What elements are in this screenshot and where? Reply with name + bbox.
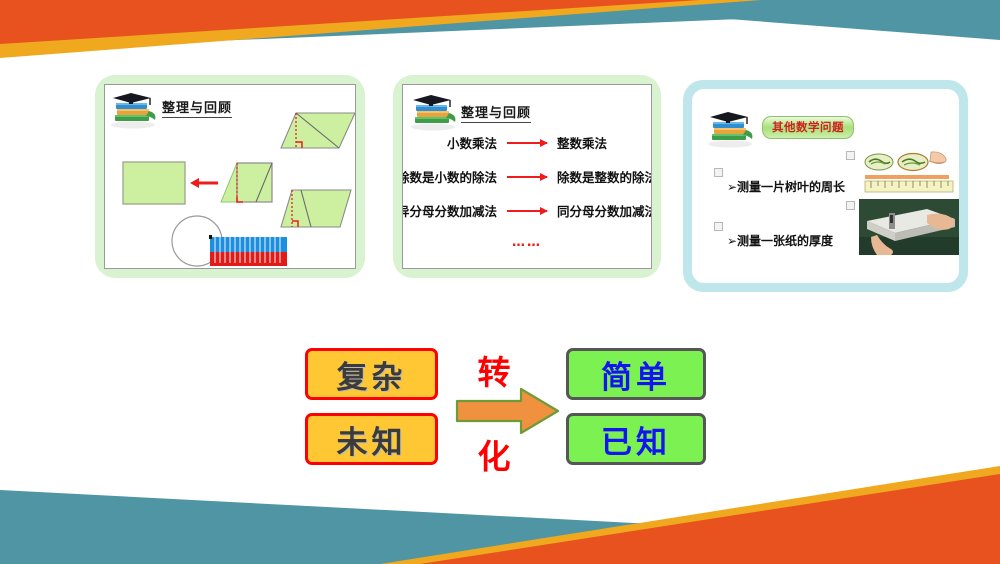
operation-to: 除数是整数的除法 [557, 167, 652, 186]
left-arrow-icon [190, 178, 218, 188]
card1-shape-diagram [105, 85, 356, 269]
bullet-marker-icon [714, 168, 723, 177]
card2-title: 整理与回顾 [461, 102, 531, 123]
summary-box-known[interactable]: 已知 [566, 413, 706, 465]
parallelogram-shape [221, 163, 272, 202]
operation-from: 除数是小数的除法 [402, 167, 497, 186]
card1-inner: 整理与回顾 [104, 84, 356, 269]
operation-to: 整数乘法 [557, 133, 651, 152]
card3-inner: 其他数学问题 ➢测量一片树叶的周长 ➢测量一张纸的厚度 [692, 89, 959, 283]
triangle-shape [281, 113, 355, 148]
operation-transform-list: 小数乘法 整数乘法 除数是小数的除法 除数是整数的除法 异分母分数加减法 同分母… [403, 133, 651, 220]
operation-row: 除数是小数的除法 除数是整数的除法 [403, 167, 651, 186]
operation-from: 小数乘法 [403, 133, 497, 152]
ellipsis-text: …… [403, 235, 651, 250]
right-arrow-icon [507, 176, 547, 178]
card-other-math-problems[interactable]: 其他数学问题 ➢测量一片树叶的周长 ➢测量一张纸的厚度 [683, 80, 968, 292]
slide-canvas: 整理与回顾 [0, 0, 1000, 564]
problem-item-2: ➢测量一张纸的厚度 [727, 232, 833, 249]
right-arrow-icon [507, 210, 547, 212]
summary-box-complex[interactable]: 复杂 [305, 348, 438, 400]
card-review-shapes[interactable]: 整理与回顾 [95, 75, 365, 278]
trapezoid-shape [281, 190, 351, 227]
image-marker-icon [846, 151, 855, 160]
circle-unroll-bar [209, 235, 287, 266]
right-arrow-icon [455, 387, 560, 435]
books-graduation-cap-icon [409, 91, 459, 131]
right-arrow-icon [507, 142, 547, 144]
bullet-marker-icon [714, 222, 723, 231]
books-graduation-cap-icon [706, 108, 756, 148]
operation-from: 异分母分数加减法 [402, 201, 497, 220]
operation-row: 异分母分数加减法 同分母分数加减法 [403, 201, 651, 220]
rectangle-shape [123, 162, 185, 204]
book-thickness-measure-image [859, 199, 959, 255]
card2-inner: 整理与回顾 小数乘法 整数乘法 除数是小数的除法 除数是整数的除法 异分母分数加… [402, 84, 652, 269]
operation-to: 同分母分数加减法 [557, 201, 652, 220]
summary-box-simple[interactable]: 简单 [566, 348, 706, 400]
transform-char-bottom: 化 [472, 430, 516, 478]
card3-title-badge: 其他数学问题 [762, 116, 854, 139]
problem-item-1: ➢测量一片树叶的周长 [727, 178, 845, 195]
summary-box-unknown[interactable]: 未知 [305, 413, 438, 465]
image-marker-icon [846, 201, 855, 210]
leaves-with-ruler-image [859, 149, 959, 197]
operation-row: 小数乘法 整数乘法 [403, 133, 651, 152]
card-review-operations[interactable]: 整理与回顾 小数乘法 整数乘法 除数是小数的除法 除数是整数的除法 异分母分数加… [393, 75, 661, 278]
